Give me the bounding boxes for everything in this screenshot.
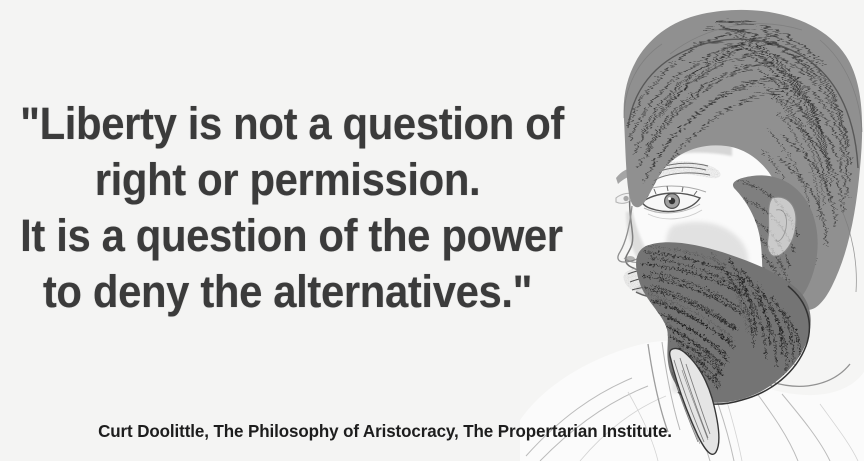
quote-line-3: It is a question of the power [20,208,555,264]
paper-wash [520,0,864,461]
portrait-sketch [520,0,864,461]
quote-card: "Liberty is not a question of right or p… [0,0,864,461]
quote-line-4: to deny the alternatives." [20,264,555,320]
attribution-line: Curt Doolittle, The Philosophy of Aristo… [12,420,759,442]
portrait-svg [520,0,864,461]
quote-text: "Liberty is not a question of right or p… [20,96,555,320]
quote-line-2: right or permission. [20,152,555,208]
quote-line-1: "Liberty is not a question of [20,96,555,152]
